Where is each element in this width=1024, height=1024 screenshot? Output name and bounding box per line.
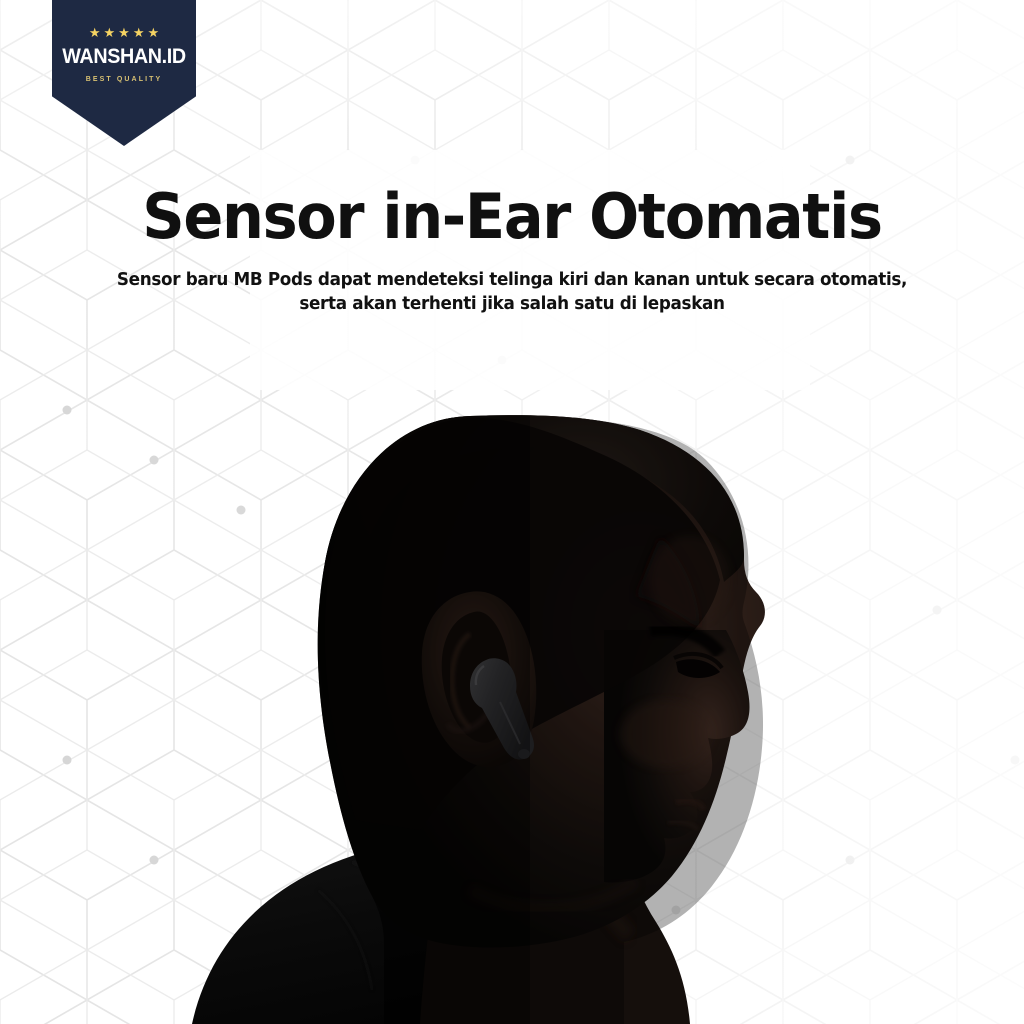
- star-icon: ★: [133, 26, 145, 39]
- subtitle-line-1: Sensor baru MB Pods dapat mendeteksi tel…: [20, 269, 1003, 293]
- brand-tagline: BEST QUALITY: [52, 76, 196, 83]
- brand-name: WANSHAN.ID: [56, 46, 191, 67]
- page-subtitle: Sensor baru MB Pods dapat mendeteksi tel…: [20, 269, 1003, 316]
- subject-photo-man-with-earbud: [0, 330, 1024, 1024]
- headline-block: Sensor in-Ear Otomatis Sensor baru MB Po…: [0, 184, 1024, 316]
- star-icon: ★: [89, 26, 101, 39]
- page-title: Sensor in-Ear Otomatis: [26, 184, 999, 251]
- badge-star-rating: ★ ★ ★ ★ ★: [52, 26, 196, 39]
- star-icon: ★: [104, 26, 116, 39]
- subtitle-line-2: serta akan terhenti jika salah satu di l…: [20, 293, 1003, 317]
- brand-badge: ★ ★ ★ ★ ★ WANSHAN.ID BEST QUALITY: [52, 0, 196, 146]
- star-icon: ★: [118, 26, 130, 39]
- poster-canvas: ★ ★ ★ ★ ★ WANSHAN.ID BEST QUALITY Sensor…: [0, 0, 1024, 1024]
- star-icon: ★: [147, 26, 159, 39]
